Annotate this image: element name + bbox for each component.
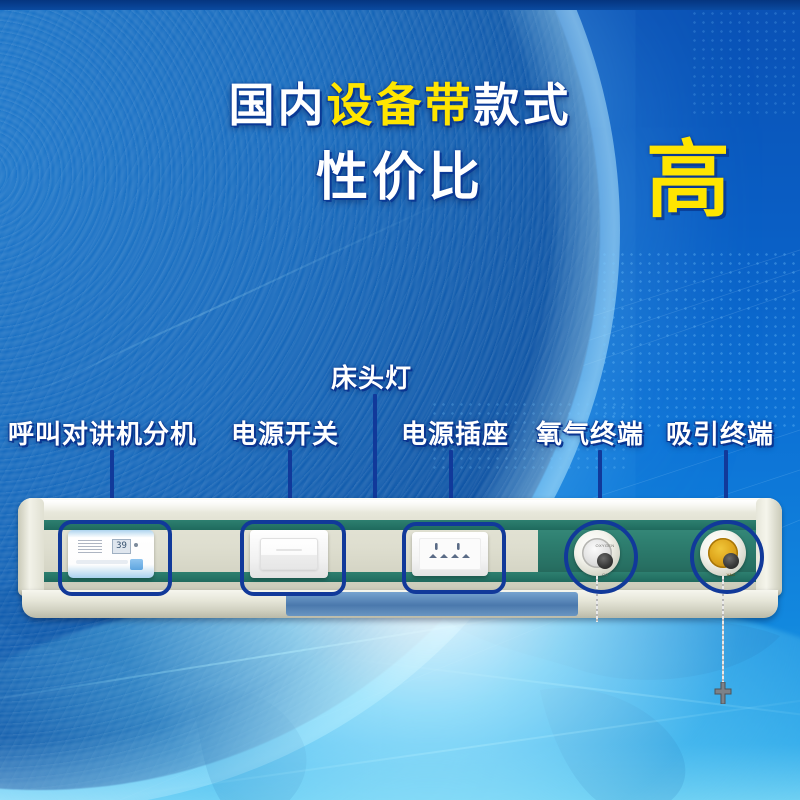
callout-label-oxygen-terminal: 氧气终端: [536, 414, 644, 451]
headline-line-1: 国内设备带款式: [0, 82, 800, 128]
highlight-circle-oxygen-terminal: [564, 520, 638, 594]
halftone-dots-right: [600, 250, 800, 430]
headline-emphasis-character: 高: [646, 138, 730, 222]
poster-canvas: 国内设备带款式 性价比 高 呼叫对讲机分机 电源开关 床头灯 电源插座 氧气终端…: [0, 0, 800, 800]
callout-label-suction-terminal: 吸引终端: [666, 414, 774, 451]
top-edge-band: [0, 0, 800, 10]
headline-line1-part1: 国内: [229, 79, 327, 131]
highlight-box-nurse-call-intercom: [58, 520, 172, 596]
callout-label-power-socket: 电源插座: [401, 414, 509, 451]
callout-label-power-switch: 电源开关: [231, 414, 339, 451]
highlight-box-power-switch: [240, 520, 346, 596]
callout-label-nurse-call-intercom: 呼叫对讲机分机: [8, 414, 197, 451]
rail-top-highlight: [24, 500, 776, 512]
highlight-box-power-socket: [402, 522, 506, 594]
callout-label-bed-head-lamp: 床头灯: [331, 358, 412, 395]
pull-chain-weight-icon: [714, 682, 732, 704]
headline-line1-accent: 设备带: [327, 79, 474, 131]
headline-line1-part2: 款式: [474, 79, 572, 131]
rail-endcap-left: [18, 498, 44, 596]
highlight-circle-suction-terminal: [690, 520, 764, 594]
